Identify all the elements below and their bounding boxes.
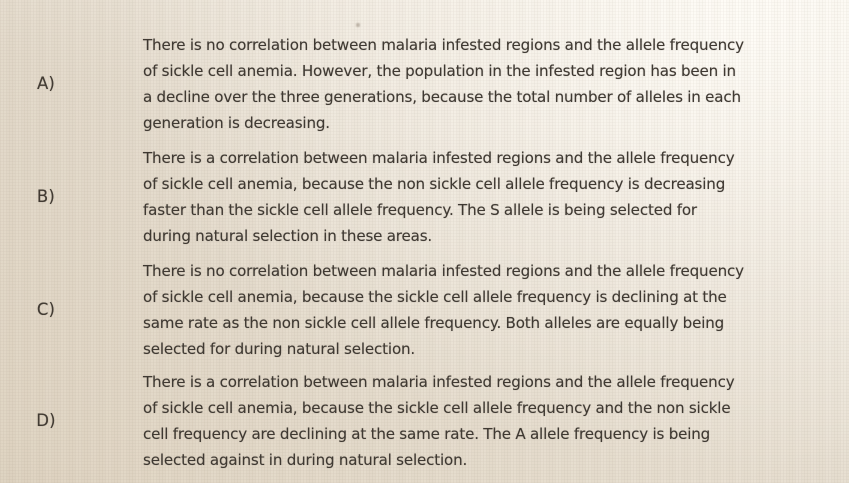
option-text-a[interactable]: There is no correlation between malaria … [143,32,849,136]
photo-blur-layer: A) There is no correlation between malar… [0,0,849,483]
option-row-a[interactable]: A) There is no correlation between malar… [0,30,849,138]
option-text-b[interactable]: There is a correlation between malaria i… [143,145,849,249]
option-label-c[interactable]: C) [0,302,143,319]
option-label-d[interactable]: D) [0,413,143,430]
option-row-b[interactable]: B) There is a correlation between malari… [0,143,849,251]
option-label-b[interactable]: B) [0,189,143,206]
options-list: A) There is no correlation between malar… [0,0,849,483]
option-label-a[interactable]: A) [0,76,143,93]
option-row-c[interactable]: C) There is no correlation between malar… [0,256,849,364]
option-row-d[interactable]: D) There is a correlation between malari… [0,367,849,475]
option-text-d[interactable]: There is a correlation between malaria i… [143,369,849,473]
question-options-screen: A) There is no correlation between malar… [0,0,849,483]
option-text-c[interactable]: There is no correlation between malaria … [143,258,849,362]
